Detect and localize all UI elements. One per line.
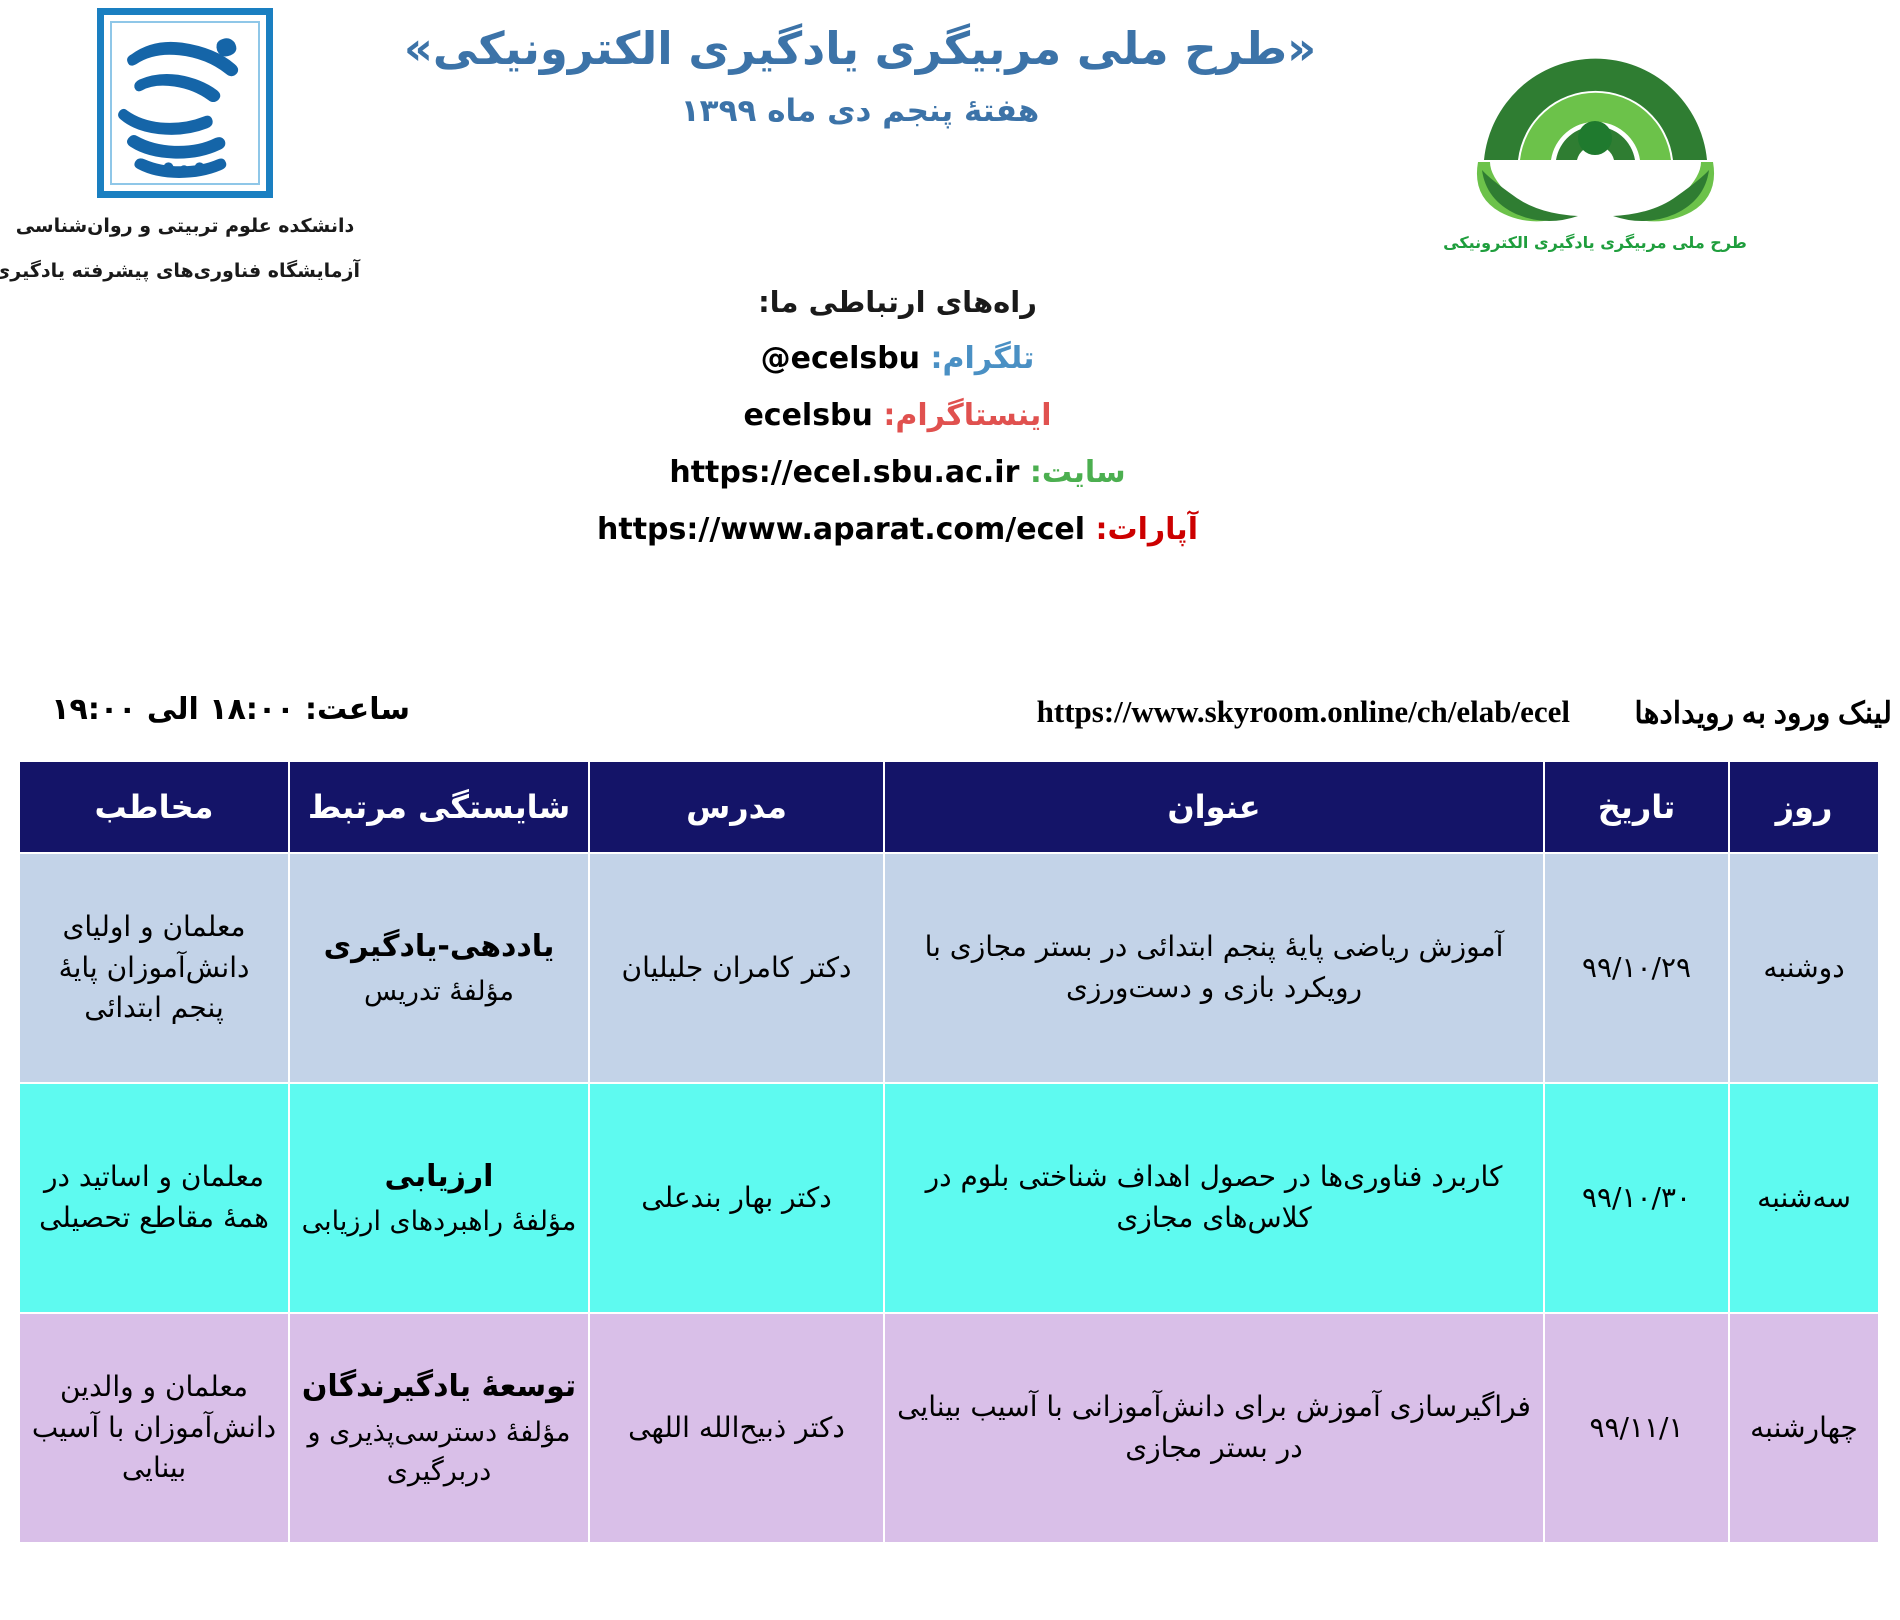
cell-day: چهارشنبه	[1729, 1313, 1879, 1543]
cell-date: ۹۹/۱۰/۲۹	[1544, 853, 1729, 1083]
cell-teacher: دکتر بهار بندعلی	[589, 1083, 884, 1313]
aparat-label: آپارات	[1107, 512, 1198, 547]
cell-audience: معلمان و اساتید در همهٔ مقاطع تحصیلی	[19, 1083, 289, 1313]
event-entry-bar: لینک ورود به رویدادها https://www.skyroo…	[0, 690, 1900, 750]
event-time-label: ساعت: ۱۸:۰۰ الی ۱۹:۰۰	[10, 692, 410, 727]
cell-teacher: دکتر ذبیح‌الله اللهی	[589, 1313, 884, 1543]
table-row: دوشنبه ۹۹/۱۰/۲۹ آموزش ریاضی پایهٔ پنجم ا…	[19, 853, 1879, 1083]
cell-day: دوشنبه	[1729, 853, 1879, 1083]
contact-section: راه‌های ارتباطی ما: تلگرام: @ecelsbu این…	[0, 285, 1900, 569]
column-header-title: عنوان	[884, 761, 1544, 853]
ecel-caption-label: طرح ملی مربیگری یادگیری الکترونیکی	[1430, 233, 1760, 252]
cell-audience: معلمان و والدین دانش‌آموزان با آسیب بینا…	[19, 1313, 289, 1543]
sbu-logo	[97, 8, 273, 198]
sbu-logo-icon	[110, 21, 260, 185]
competency-main: ارزیابی	[298, 1155, 580, 1199]
column-header-date: تاریخ	[1544, 761, 1729, 853]
ecel-branding: طرح ملی مربیگری یادگیری الکترونیکی	[1430, 10, 1760, 252]
cell-date: ۹۹/۱۱/۱	[1544, 1313, 1729, 1543]
cell-competency: توسعهٔ یادگیرندگان مؤلفهٔ دسترسی‌پذیری و…	[289, 1313, 589, 1543]
competency-main: یاددهی-یادگیری	[298, 925, 580, 969]
cell-audience: معلمان و اولیای دانش‌آموزان پایهٔ پنجم ا…	[19, 853, 289, 1083]
competency-main: توسعهٔ یادگیرندگان	[298, 1365, 580, 1409]
competency-sub: مؤلفهٔ راهبردهای ارزیابی	[298, 1202, 580, 1241]
column-header-teacher: مدرس	[589, 761, 884, 853]
contact-row-site: سایت: https://ecel.sbu.ac.ir	[0, 455, 1900, 490]
cell-title: آموزش ریاضی پایهٔ پنجم ابتدائی در بستر م…	[884, 853, 1544, 1083]
contact-row-instagram: اینستاگرام: ecelsbu	[0, 398, 1900, 433]
telegram-label: تلگرام	[943, 341, 1035, 376]
sbu-faculty-label: دانشکده علوم تربیتی و روان‌شناسی	[10, 210, 360, 243]
event-link-url[interactable]: https://www.skyroom.online/ch/elab/ecel	[1037, 694, 1570, 730]
ecel-logo-icon	[1430, 10, 1760, 229]
competency-sub: مؤلفهٔ دسترسی‌پذیری و دربرگیری	[298, 1413, 580, 1491]
schedule-table-wrapper: روز تاریخ عنوان مدرس شایستگی مرتبط مخاطب…	[20, 760, 1880, 1544]
table-header-row: روز تاریخ عنوان مدرس شایستگی مرتبط مخاطب	[19, 761, 1879, 853]
title-block: «طرح ملی مربیگری یادگیری الکترونیکی» هفت…	[360, 20, 1360, 129]
cell-title: کاربرد فناوری‌ها در حصول اهداف شناختی بل…	[884, 1083, 1544, 1313]
page-subtitle: هفتهٔ پنجم دی ماه ۱۳۹۹	[360, 93, 1360, 129]
sbu-lab-label: آزمایشگاه فناوری‌های پیشرفته یادگیری	[10, 255, 360, 288]
contact-row-aparat: آپارات: https://www.aparat.com/ecel	[0, 512, 1900, 547]
cell-competency: یاددهی-یادگیری مؤلفهٔ تدریس	[289, 853, 589, 1083]
column-header-audience: مخاطب	[19, 761, 289, 853]
instagram-label: اینستاگرام	[895, 398, 1051, 433]
contact-row-telegram: تلگرام: @ecelsbu	[0, 341, 1900, 376]
event-link-label: لینک ورود به رویدادها	[1634, 696, 1892, 731]
sbu-branding: دانشکده علوم تربیتی و روان‌شناسی آزمایشگ…	[10, 8, 360, 289]
aparat-url[interactable]: https://www.aparat.com/ecel	[597, 512, 1085, 547]
cell-date: ۹۹/۱۰/۳۰	[1544, 1083, 1729, 1313]
page-title: «طرح ملی مربیگری یادگیری الکترونیکی»	[360, 20, 1360, 79]
cell-competency: ارزیابی مؤلفهٔ راهبردهای ارزیابی	[289, 1083, 589, 1313]
competency-sub: مؤلفهٔ تدریس	[298, 972, 580, 1011]
site-url[interactable]: https://ecel.sbu.ac.ir	[669, 455, 1019, 490]
schedule-table: روز تاریخ عنوان مدرس شایستگی مرتبط مخاطب…	[18, 760, 1880, 1544]
site-label: سایت	[1042, 455, 1126, 490]
table-row: چهارشنبه ۹۹/۱۱/۱ فراگیرسازی آموزش برای د…	[19, 1313, 1879, 1543]
column-header-day: روز	[1729, 761, 1879, 853]
cell-title: فراگیرسازی آموزش برای دانش‌آموزانی با آس…	[884, 1313, 1544, 1543]
column-header-competency: شایستگی مرتبط	[289, 761, 589, 853]
cell-teacher: دکتر کامران جلیلیان	[589, 853, 884, 1083]
telegram-value[interactable]: @ecelsbu	[761, 341, 920, 376]
table-row: سه‌شنبه ۹۹/۱۰/۳۰ کاربرد فناوری‌ها در حصو…	[19, 1083, 1879, 1313]
poster-header: دانشکده علوم تربیتی و روان‌شناسی آزمایشگ…	[0, 0, 1900, 330]
instagram-value[interactable]: ecelsbu	[743, 398, 872, 433]
cell-day: سه‌شنبه	[1729, 1083, 1879, 1313]
contact-heading: راه‌های ارتباطی ما:	[0, 285, 1900, 319]
